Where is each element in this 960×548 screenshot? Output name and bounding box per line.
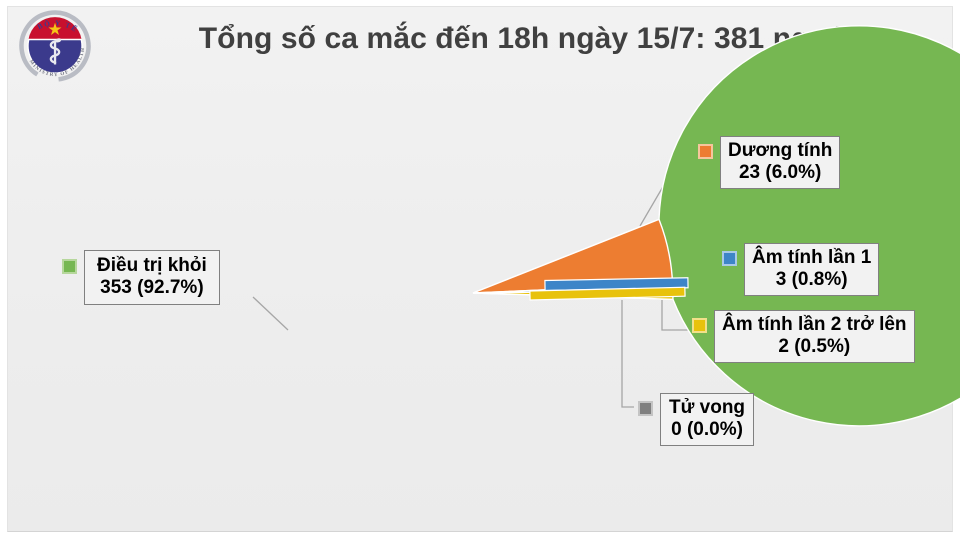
label-box-dieu-tri-khoi: Điều trị khỏi 353 (92.7%) xyxy=(84,250,220,305)
label-box-am-tinh-lan-2-tro-len: Âm tính lần 2 trở lên 2 (0.5%) xyxy=(714,310,915,363)
legend-swatch-am-tinh-lan-2-tro-len xyxy=(692,318,707,333)
legend-swatch-am-tinh-lan-1 xyxy=(722,251,737,266)
value-tu-vong: 0 (0.0%) xyxy=(669,419,745,441)
label-box-am-tinh-lan-1: Âm tính lần 1 3 (0.8%) xyxy=(744,243,879,296)
value-dieu-tri-khoi: 353 (92.7%) xyxy=(97,277,207,299)
label-dieu-tri-khoi: Điều trị khỏi xyxy=(97,255,207,277)
pie-slice-dieu-tri-khoi xyxy=(473,26,960,426)
leader-line-dieu-tri-khoi xyxy=(253,297,288,330)
label-tu-vong: Tử vong xyxy=(669,397,745,419)
pie-slices xyxy=(473,26,960,426)
callout-duong-tinh[interactable]: Dương tính 23 (6.0%) xyxy=(698,136,840,189)
legend-swatch-dieu-tri-khoi xyxy=(62,259,77,274)
label-am-tinh-lan-2-tro-len: Âm tính lần 2 trở lên xyxy=(722,314,907,336)
label-box-tu-vong: Tử vong 0 (0.0%) xyxy=(660,393,754,446)
callout-tu-vong[interactable]: Tử vong 0 (0.0%) xyxy=(638,393,754,446)
chart-screenshot: BỘ Y TẾ MINISTRY OF HEALTH Tổng số ca mắ… xyxy=(0,0,960,543)
callout-am-tinh-lan-1[interactable]: Âm tính lần 1 3 (0.8%) xyxy=(722,243,879,296)
callout-dieu-tri-khoi[interactable]: Điều trị khỏi 353 (92.7%) xyxy=(62,250,220,305)
leader-line-tu-vong xyxy=(622,300,634,407)
callout-am-tinh-lan-2-tro-len[interactable]: Âm tính lần 2 trở lên 2 (0.5%) xyxy=(692,310,915,363)
value-am-tinh-lan-2-tro-len: 2 (0.5%) xyxy=(722,336,907,358)
label-duong-tinh: Dương tính xyxy=(728,140,832,162)
label-box-duong-tinh: Dương tính 23 (6.0%) xyxy=(720,136,840,189)
legend-swatch-tu-vong xyxy=(638,401,653,416)
legend-swatch-duong-tinh xyxy=(698,144,713,159)
value-am-tinh-lan-1: 3 (0.8%) xyxy=(752,269,871,291)
label-am-tinh-lan-1: Âm tính lần 1 xyxy=(752,247,871,269)
value-duong-tinh: 23 (6.0%) xyxy=(728,162,832,184)
pie-thin-slivers xyxy=(530,278,688,300)
